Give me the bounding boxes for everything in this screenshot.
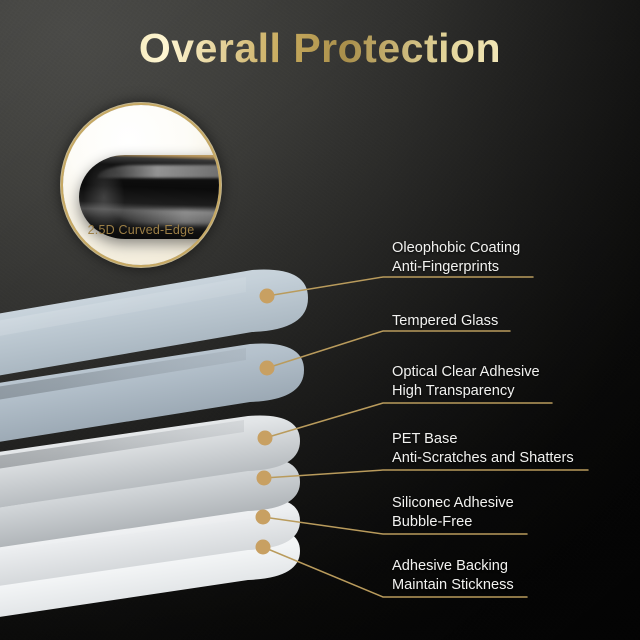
page-title: Overall Protection — [0, 26, 640, 71]
callout-line1: Optical Clear Adhesive — [392, 364, 540, 380]
callout-line1: Adhesive Backing — [392, 558, 508, 574]
callout-line2: Anti-Scratches and Shatters — [392, 449, 574, 468]
callout-line2: Bubble-Free — [392, 513, 514, 532]
curved-edge-magnifier: 2.5D Curved-Edge — [63, 105, 219, 265]
callout-label-siliconec-adhesive: Siliconec Adhesive Bubble-Free — [392, 494, 514, 532]
callout-label-optical-clear-adhesive: Optical Clear Adhesive High Transparency — [392, 363, 540, 401]
callout-line2: Maintain Stickness — [392, 576, 514, 595]
callout-line1: Tempered Glass — [392, 313, 498, 329]
protection-infographic: Overall Protection 2.5D Curved-Edge — [0, 0, 640, 640]
callout-line2: High Transparency — [392, 382, 540, 401]
callout-line2: Anti-Fingerprints — [392, 258, 520, 277]
magnifier-caption: 2.5D Curved-Edge — [63, 223, 219, 237]
callout-line1: Oleophobic Coating — [392, 240, 520, 256]
callout-label-tempered-glass: Tempered Glass — [392, 312, 498, 331]
callout-label-adhesive-backing: Adhesive Backing Maintain Stickness — [392, 557, 514, 595]
background-vignette — [0, 0, 640, 640]
callout-label-oleophobic-coating: Oleophobic Coating Anti-Fingerprints — [392, 239, 520, 277]
callout-line1: Siliconec Adhesive — [392, 495, 514, 511]
callout-line1: PET Base — [392, 431, 457, 447]
callout-label-pet-base: PET Base Anti-Scratches and Shatters — [392, 430, 574, 468]
